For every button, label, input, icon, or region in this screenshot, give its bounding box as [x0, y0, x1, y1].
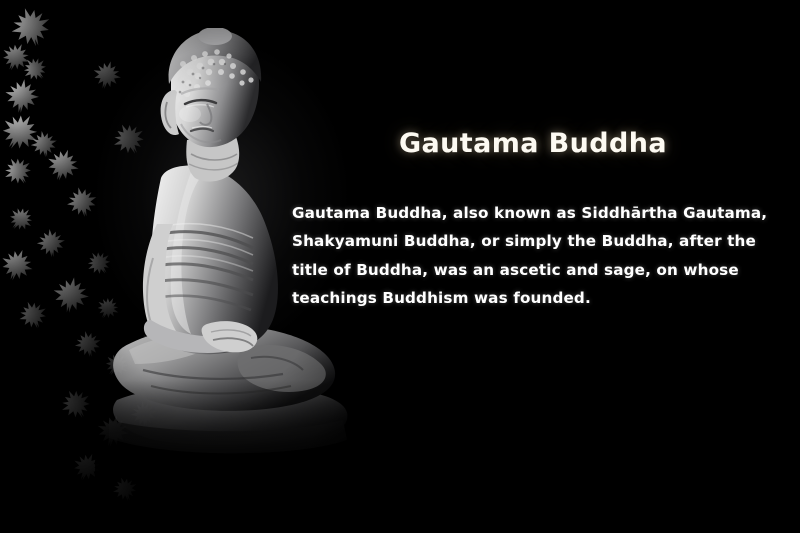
description-line: teachings Buddhism was founded. — [292, 284, 774, 312]
description-line: Shakyamuni Buddha, or simply the Buddha,… — [292, 227, 774, 255]
buddha-quote-card: Gautama Buddha Gautama Buddha, also know… — [0, 0, 800, 533]
description-line: Gautama Buddha, also known as Siddhārtha… — [292, 199, 774, 227]
text-column: Gautama Buddha Gautama Buddha, also know… — [292, 128, 774, 313]
description-line: title of Buddha, was an ascetic and sage… — [292, 256, 774, 284]
maple-leaves-decoration — [0, 0, 200, 533]
description-paragraph: Gautama Buddha, also known as Siddhārtha… — [292, 199, 774, 313]
page-title: Gautama Buddha — [292, 128, 774, 159]
